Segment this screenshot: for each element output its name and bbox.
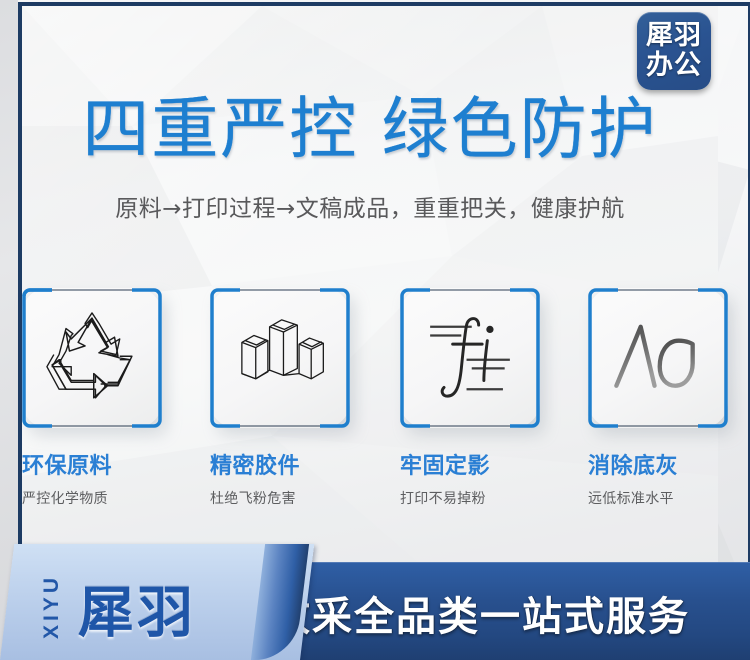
logo-line-2: 办公 [646, 51, 702, 81]
feature-icon-box [400, 288, 540, 428]
feature-icon-box [588, 288, 728, 428]
page-title: 四重严控 绿色防护 [22, 92, 718, 166]
feature-title: 消除底灰 [588, 448, 750, 480]
feature-desc: 杜绝飞粉危害 [210, 488, 372, 508]
promo-page: 犀羽 办公 四重严控 绿色防护 原料→打印过程→文稿成品，重重把关，健康护航 [0, 0, 750, 660]
feature-card-background-clean[interactable]: 消除底灰 远低标准水平 [588, 288, 750, 508]
feature-desc: 远低标准水平 [588, 488, 750, 508]
feature-icon-box [210, 288, 350, 428]
footer-ribbon: 政采全品类一站式服务 XIYU 犀羽 [0, 540, 750, 660]
subtitle-block: 原料→打印过程→文稿成品，重重把关，健康护航 [22, 193, 718, 225]
logo-line-1: 犀羽 [646, 21, 702, 51]
fi-ligature-icon [418, 306, 522, 410]
aa-letters-icon [606, 306, 710, 410]
feature-desc: 严控化学物质 [22, 488, 184, 508]
feature-title: 牢固定影 [400, 448, 562, 480]
headline-block: 四重严控 绿色防护 [22, 92, 718, 166]
feature-card-recycle[interactable]: 环保原料 严控化学物质 [22, 288, 184, 508]
footer-brand-cn: 犀羽 [78, 568, 196, 649]
brand-logo: 犀羽 办公 [637, 12, 711, 90]
feature-title: 环保原料 [22, 448, 184, 480]
feature-card-fusing[interactable]: 牢固定影 打印不易掉粉 [400, 288, 562, 508]
feature-desc: 打印不易掉粉 [400, 488, 562, 508]
page-subtitle: 原料→打印过程→文稿成品，重重把关，健康护航 [22, 193, 718, 225]
recycle-icon [40, 306, 144, 410]
footer-tagline: 政采全品类一站式服务 [270, 584, 690, 642]
feature-title: 精密胶件 [210, 448, 372, 480]
feature-card-list: 环保原料 严控化学物质 [22, 288, 722, 518]
feature-card-precision-parts[interactable]: 精密胶件 杜绝飞粉危害 [210, 288, 372, 508]
feature-icon-box [22, 288, 162, 428]
bar-blocks-icon [228, 306, 332, 410]
